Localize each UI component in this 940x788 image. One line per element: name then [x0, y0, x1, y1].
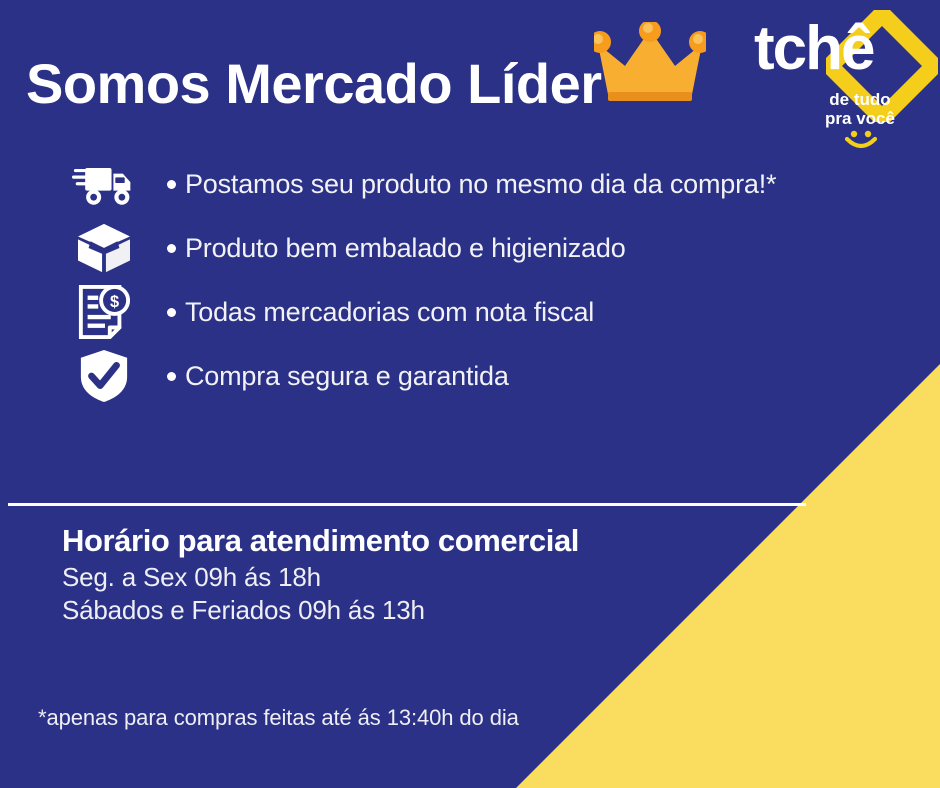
business-hours-title: Horário para atendimento comercial — [62, 522, 579, 561]
feature-text: Postamos seu produto no mesmo dia da com… — [185, 169, 776, 200]
logo-tagline-line1: de tudo — [800, 90, 920, 109]
logo-wordmark: tchê — [754, 18, 873, 80]
business-hours-block: Horário para atendimento comercial Seg. … — [62, 522, 579, 627]
crown-icon — [594, 22, 706, 108]
business-hours-weekday: Seg. a Sex 09h ás 18h — [62, 561, 579, 594]
bullet-dot — [167, 180, 176, 189]
svg-text:$: $ — [110, 293, 119, 311]
smiley-face-icon — [840, 130, 882, 150]
list-item: Postamos seu produto no mesmo dia da com… — [0, 152, 820, 216]
feature-text: Compra segura e garantida — [185, 361, 509, 392]
business-hours-weekend: Sábados e Feriados 09h ás 13h — [62, 594, 579, 627]
feature-list: Postamos seu produto no mesmo dia da com… — [0, 152, 820, 408]
brand-logo: tchê de tudo pra você — [752, 6, 940, 152]
invoice-dollar-icon: $ — [70, 283, 138, 341]
feature-text: Produto bem embalado e higienizado — [185, 233, 626, 264]
list-item: Compra segura e garantida — [0, 344, 820, 408]
section-divider — [8, 503, 806, 506]
promotional-banner: Somos Mercado Líder tchê de tudo pra voc… — [0, 0, 940, 788]
feature-text: Todas mercadorias com nota fiscal — [185, 297, 594, 328]
logo-tagline: de tudo pra você — [800, 90, 920, 128]
delivery-truck-icon — [70, 155, 138, 213]
logo-tagline-line2: pra você — [800, 109, 920, 128]
footnote-text: *apenas para compras feitas até ás 13:40… — [38, 705, 519, 731]
list-item: Produto bem embalado e higienizado — [0, 216, 820, 280]
bullet-dot — [167, 308, 176, 317]
open-box-icon — [70, 219, 138, 277]
page-title: Somos Mercado Líder — [26, 56, 602, 112]
list-item: $ Todas mercadorias com nota fiscal — [0, 280, 820, 344]
shield-check-icon — [70, 347, 138, 405]
bullet-dot — [167, 244, 176, 253]
bullet-dot — [167, 372, 176, 381]
